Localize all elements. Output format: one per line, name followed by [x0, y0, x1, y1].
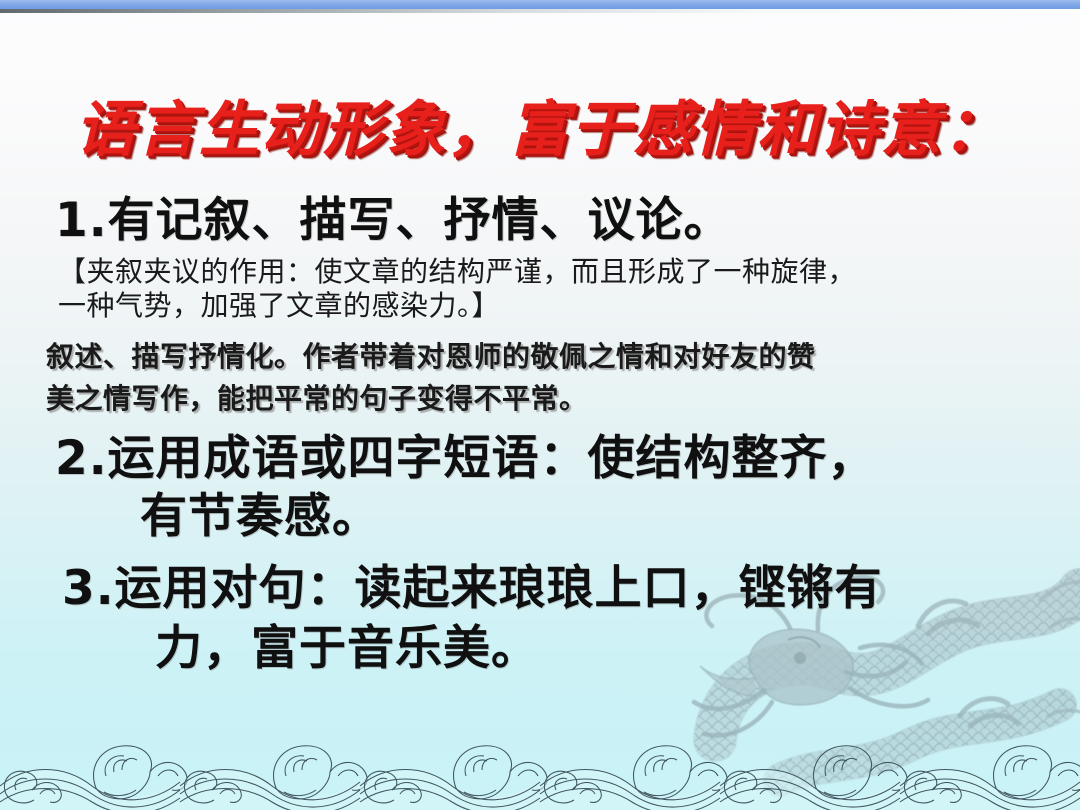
point-1-heading: 1.有记叙、描写、抒情、议论。 — [55, 192, 732, 250]
slide-text-content: 语言生动形象，富于感情和诗意： 1.有记叙、描写、抒情、议论。 【夹叙夹议的作用… — [0, 0, 1080, 810]
slide-title: 语言生动形象，富于感情和诗意： — [0, 100, 1080, 160]
slide-canvas: 语言生动形象，富于感情和诗意： 1.有记叙、描写、抒情、议论。 【夹叙夹议的作用… — [0, 0, 1080, 810]
point-3-heading-line-1: 3.运用对句：读起来琅琅上口，铿锵有 — [62, 560, 883, 618]
point-1-note-line-2: 一种气势，加强了文章的感染力。】 — [58, 289, 500, 323]
point-1-note-line-1: 【夹叙夹议的作用：使文章的结构严谨，而且形成了一种旋律， — [58, 255, 856, 289]
point-3-heading-line-2: 力，富于音乐美。 — [155, 620, 539, 678]
point-2-heading-line-2: 有节奏感。 — [140, 488, 380, 546]
point-1-detail-line-2: 美之情写作，能把平常的句子变得不平常。 — [46, 382, 588, 416]
point-2-heading-line-1: 2.运用成语或四字短语：使结构整齐， — [55, 430, 876, 488]
point-1-detail-line-1: 叙述、描写抒情化。作者带着对恩师的敬佩之情和对好友的赞 — [46, 340, 816, 374]
